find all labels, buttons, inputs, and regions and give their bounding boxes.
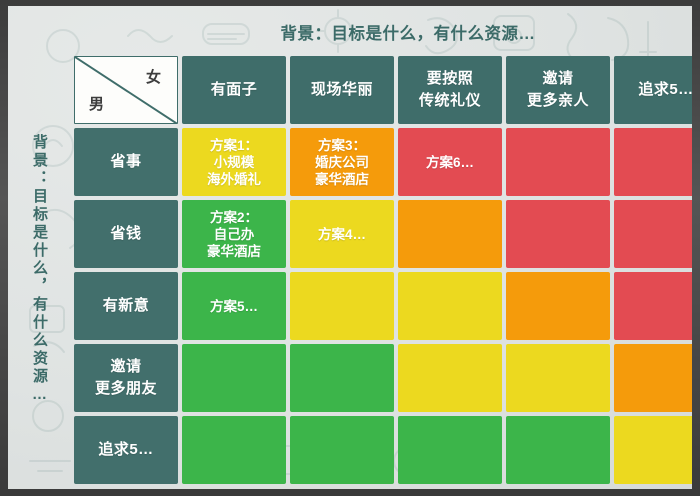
matrix-cell[interactable]	[506, 344, 610, 412]
matrix-cell[interactable]	[614, 416, 692, 484]
matrix-column-header[interactable]: 追求5…	[614, 56, 692, 124]
matrix-cell[interactable]	[182, 344, 286, 412]
matrix-cell[interactable]	[398, 416, 502, 484]
matrix-cell[interactable]	[398, 272, 502, 340]
matrix-cell[interactable]	[398, 200, 502, 268]
matrix-cell[interactable]	[182, 416, 286, 484]
matrix-cell[interactable]	[290, 344, 394, 412]
matrix-cell[interactable]	[614, 128, 692, 196]
matrix-cell[interactable]: 方案5…	[182, 272, 286, 340]
page-title-left-vertical: 背景：目标是什么，有什么资源…	[22, 134, 56, 484]
matrix-cell[interactable]	[614, 272, 692, 340]
slide-canvas: 背景：目标是什么，有什么资源… 背景：目标是什么，有什么资源… 女男有面子现场华…	[8, 6, 692, 489]
matrix-row-header[interactable]: 追求5…	[74, 416, 178, 484]
matrix-column-header[interactable]: 要按照传统礼仪	[398, 56, 502, 124]
matrix-cell-label: 方案6…	[426, 154, 474, 171]
matrix-cell[interactable]	[506, 416, 610, 484]
decision-matrix: 女男有面子现场华丽要按照传统礼仪邀请更多亲人追求5…省事方案1：小规模海外婚礼方…	[74, 56, 692, 484]
corner-row-axis-label: 男	[89, 96, 104, 113]
matrix-cell[interactable]	[614, 344, 692, 412]
page-title-top: 背景：目标是什么，有什么资源…	[128, 20, 688, 44]
matrix-cell[interactable]: 方案2：自己办豪华酒店	[182, 200, 286, 268]
matrix-cell[interactable]: 方案3：婚庆公司豪华酒店	[290, 128, 394, 196]
matrix-row-header[interactable]: 省事	[74, 128, 178, 196]
matrix-cell[interactable]	[506, 272, 610, 340]
matrix-cell-label: 方案3：婚庆公司豪华酒店	[315, 137, 369, 188]
matrix-cell-label: 方案1：小规模海外婚礼	[207, 137, 261, 188]
matrix-cell[interactable]	[506, 128, 610, 196]
matrix-cell-label: 方案4…	[318, 226, 366, 243]
matrix-cell-label: 方案5…	[210, 298, 258, 315]
matrix-cell[interactable]: 方案4…	[290, 200, 394, 268]
matrix-row-header[interactable]: 邀请更多朋友	[74, 344, 178, 412]
matrix-column-header[interactable]: 邀请更多亲人	[506, 56, 610, 124]
matrix-cell[interactable]: 方案1：小规模海外婚礼	[182, 128, 286, 196]
matrix-column-header[interactable]: 现场华丽	[290, 56, 394, 124]
diagonal-divider-icon	[75, 57, 177, 124]
matrix-cell-label: 方案2：自己办豪华酒店	[207, 209, 261, 260]
slide-frame: 背景：目标是什么，有什么资源… 背景：目标是什么，有什么资源… 女男有面子现场华…	[0, 0, 700, 496]
matrix-cell[interactable]	[290, 416, 394, 484]
matrix-cell[interactable]	[398, 344, 502, 412]
corner-column-axis-label: 女	[146, 69, 161, 86]
matrix-cell[interactable]	[506, 200, 610, 268]
matrix-cell[interactable]	[614, 200, 692, 268]
matrix-column-header[interactable]: 有面子	[182, 56, 286, 124]
matrix-row-header[interactable]: 有新意	[74, 272, 178, 340]
matrix-corner-axis-cell: 女男	[74, 56, 178, 124]
matrix-cell[interactable]: 方案6…	[398, 128, 502, 196]
matrix-cell[interactable]	[290, 272, 394, 340]
matrix-row-header[interactable]: 省钱	[74, 200, 178, 268]
